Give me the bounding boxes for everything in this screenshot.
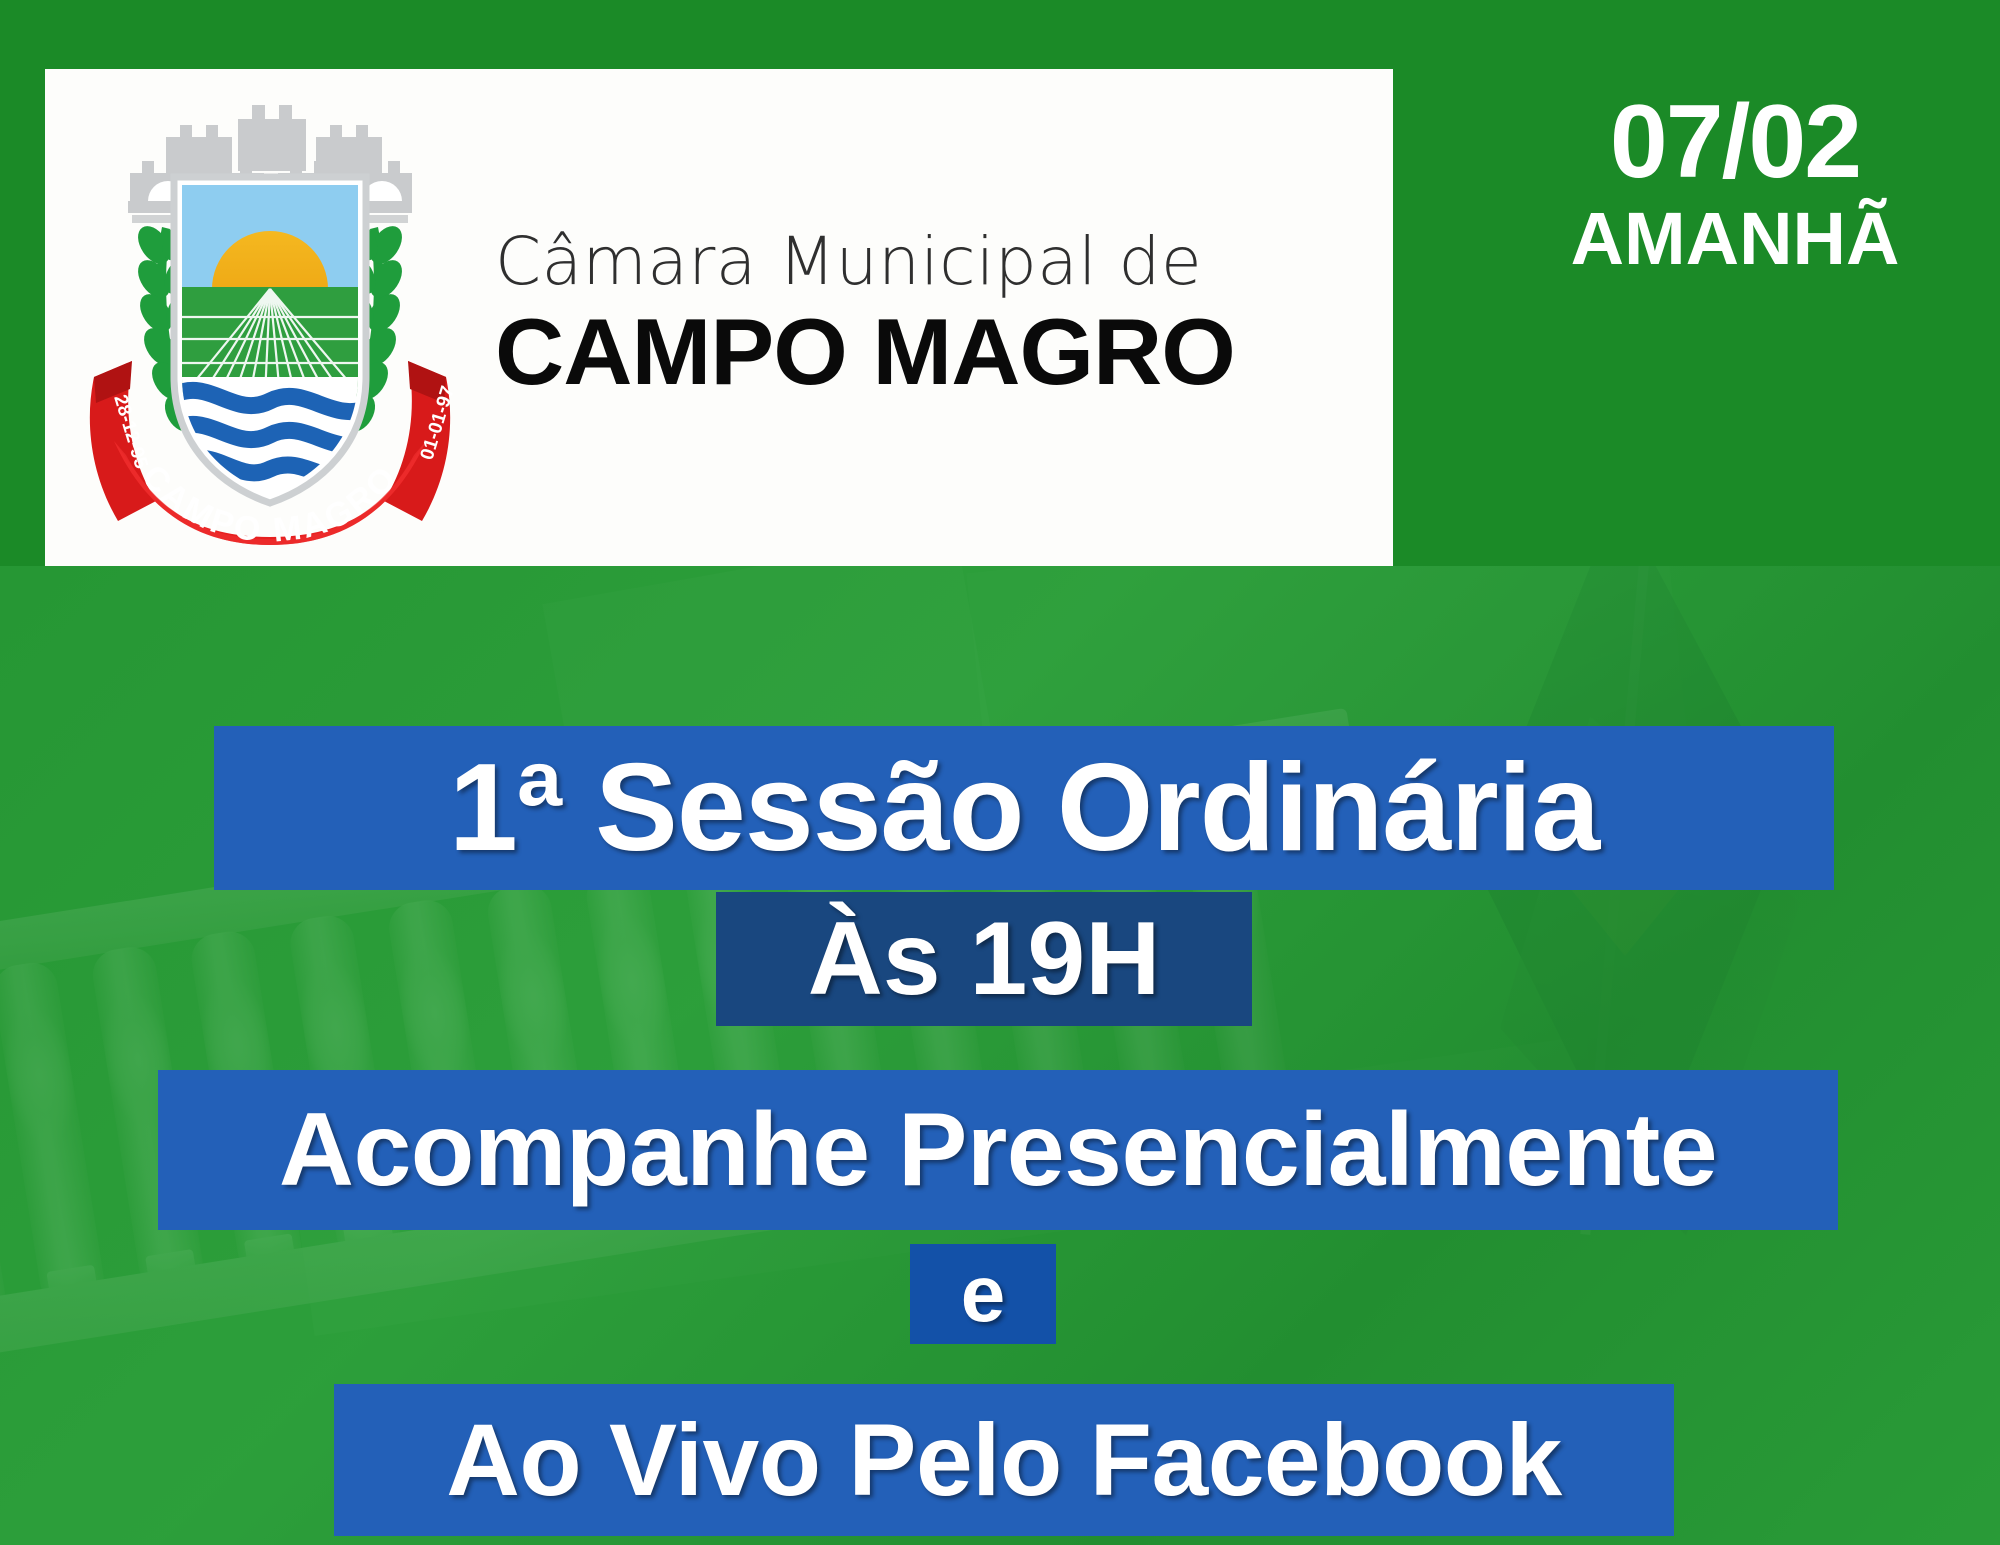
band-live-facebook: Ao Vivo Pelo Facebook <box>334 1384 1674 1536</box>
event-poster: 28-12-95 01-01-97 CAMPO MAGRO Câmara Mun… <box>0 0 2000 1545</box>
shield-icon <box>174 177 370 507</box>
wordmark: Câmara Municipal de CAMPO MAGRO <box>495 229 1375 399</box>
event-date-label: AMANHÃ <box>1520 202 1950 276</box>
header-green-band: 28-12-95 01-01-97 CAMPO MAGRO Câmara Mun… <box>0 0 2000 566</box>
band-session-title: 1ª Sessão Ordinária <box>214 726 1834 890</box>
band-conjunction: e <box>910 1244 1056 1344</box>
date-block: 07/02 AMANHÃ <box>1520 90 1950 276</box>
wordmark-line-1: Câmara Municipal de <box>495 229 1375 295</box>
logo-plate: 28-12-95 01-01-97 CAMPO MAGRO Câmara Mun… <box>45 69 1393 566</box>
wordmark-line-2: CAMPO MAGRO <box>495 305 1393 399</box>
event-date: 07/02 <box>1520 90 1950 194</box>
band-session-time: Às 19H <box>716 892 1252 1026</box>
band-attend-in-person: Acompanhe Presencialmente <box>158 1070 1838 1230</box>
campo-magro-coat-of-arms-icon: 28-12-95 01-01-97 CAMPO MAGRO <box>70 77 470 545</box>
